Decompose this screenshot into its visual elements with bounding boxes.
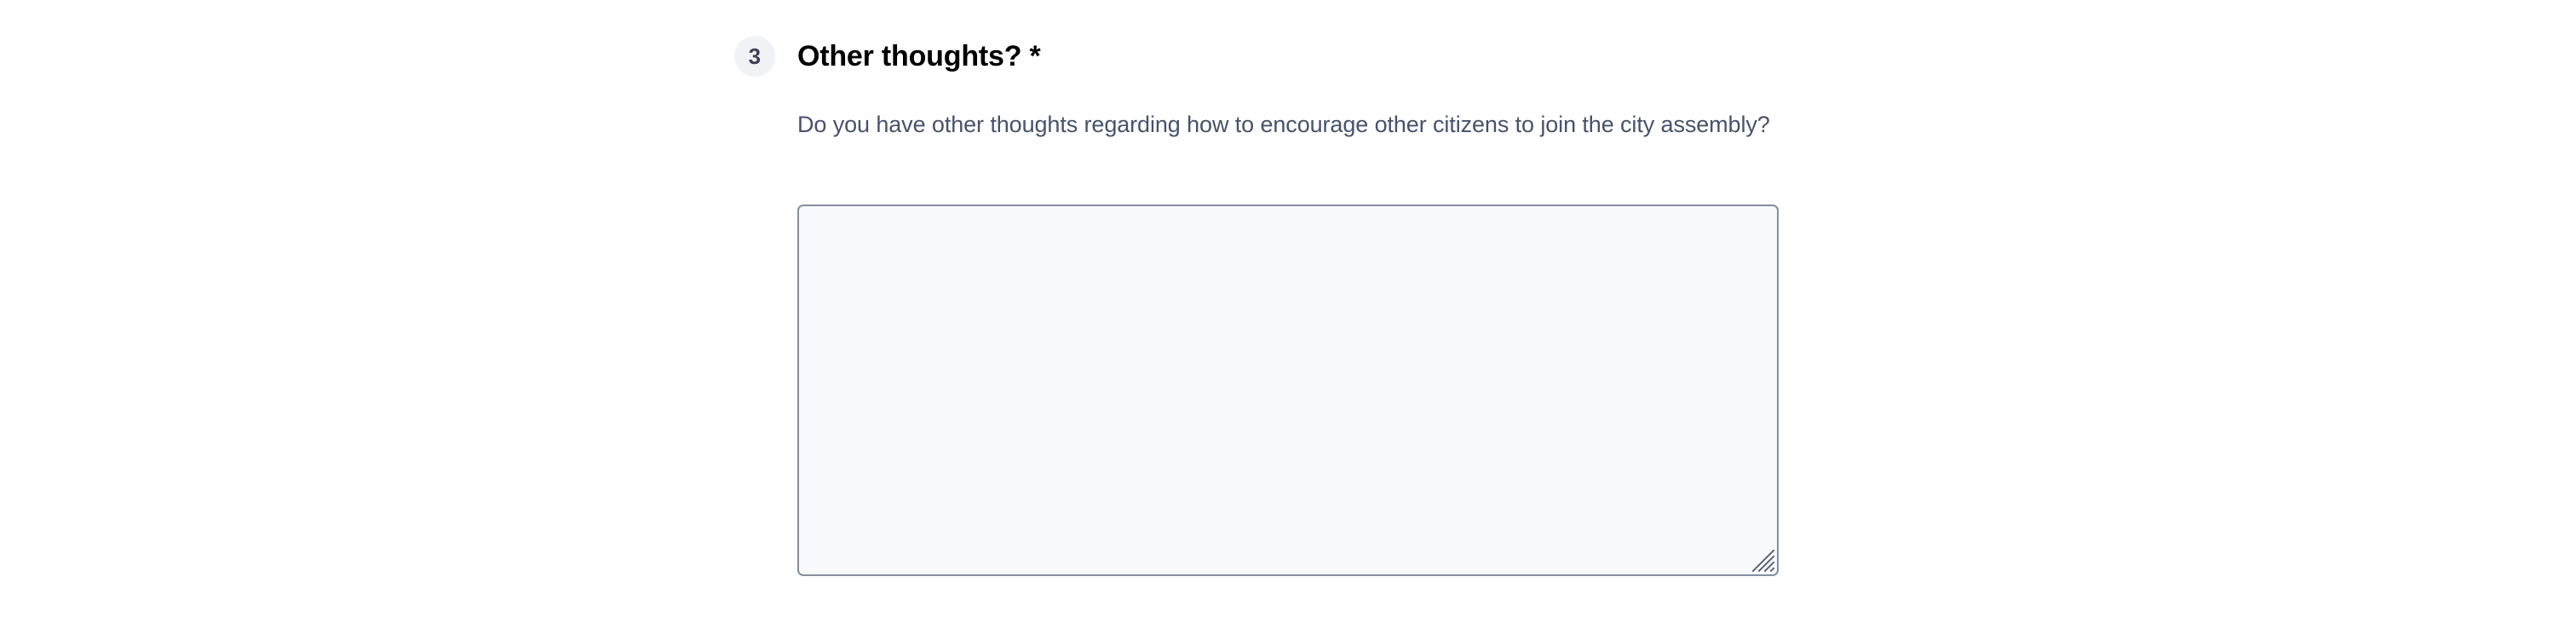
answer-field-wrap bbox=[797, 205, 1779, 576]
survey-question-page: 3 Other thoughts? * Do you have other th… bbox=[0, 0, 2576, 634]
question-description: Do you have other thoughts regarding how… bbox=[797, 107, 1785, 141]
question-title: Other thoughts? * bbox=[797, 32, 1041, 80]
question-header: 3 Other thoughts? * bbox=[734, 36, 1842, 80]
other-thoughts-textarea[interactable] bbox=[797, 205, 1779, 576]
question-block: 3 Other thoughts? * Do you have other th… bbox=[734, 36, 1842, 80]
required-asterisk-glyph: * bbox=[1030, 40, 1041, 72]
question-number-badge: 3 bbox=[734, 36, 775, 77]
question-title-text: Other thoughts? bbox=[797, 40, 1021, 72]
required-asterisk bbox=[1021, 40, 1029, 72]
